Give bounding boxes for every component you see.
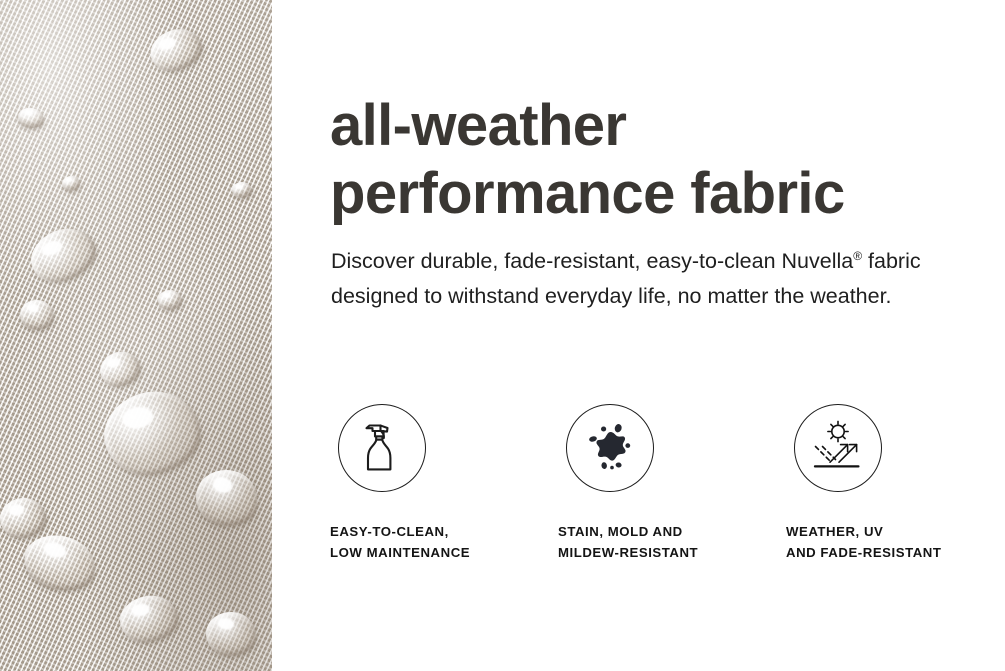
feature-label: EASY-TO-CLEAN, LOW MAINTENANCE	[330, 521, 558, 563]
fabric-photo	[0, 0, 272, 671]
sun-uv-reflect-icon	[794, 404, 882, 492]
subcopy-line-1: Discover durable, fade-resistant, easy-t…	[331, 249, 853, 273]
feature-weather-uv-resistant: WEATHER, UV AND FADE-RESISTANT	[786, 404, 1005, 563]
feature-stain-resistant: STAIN, MOLD AND MILDEW-RESISTANT	[558, 404, 786, 563]
spray-bottle-icon	[338, 404, 426, 492]
feature-easy-to-clean: EASY-TO-CLEAN, LOW MAINTENANCE	[330, 404, 558, 563]
page-title: all-weather performance fabric	[330, 92, 980, 228]
all-weather-fabric-banner: all-weather performance fabric Discover …	[0, 0, 1005, 671]
water-droplet	[62, 176, 80, 191]
feature-label: WEATHER, UV AND FADE-RESISTANT	[786, 521, 1005, 563]
feature-list: EASY-TO-CLEAN, LOW MAINTENANCE	[330, 404, 990, 563]
registered-trademark-symbol: ®	[853, 249, 862, 263]
feature-label: STAIN, MOLD AND MILDEW-RESISTANT	[558, 521, 786, 563]
water-droplet	[232, 182, 252, 198]
stain-splatter-icon	[566, 404, 654, 492]
content-column: all-weather performance fabric Discover …	[330, 0, 990, 671]
water-droplet	[158, 290, 182, 310]
subcopy-paragraph: Discover durable, fade-resistant, easy-t…	[331, 244, 956, 314]
